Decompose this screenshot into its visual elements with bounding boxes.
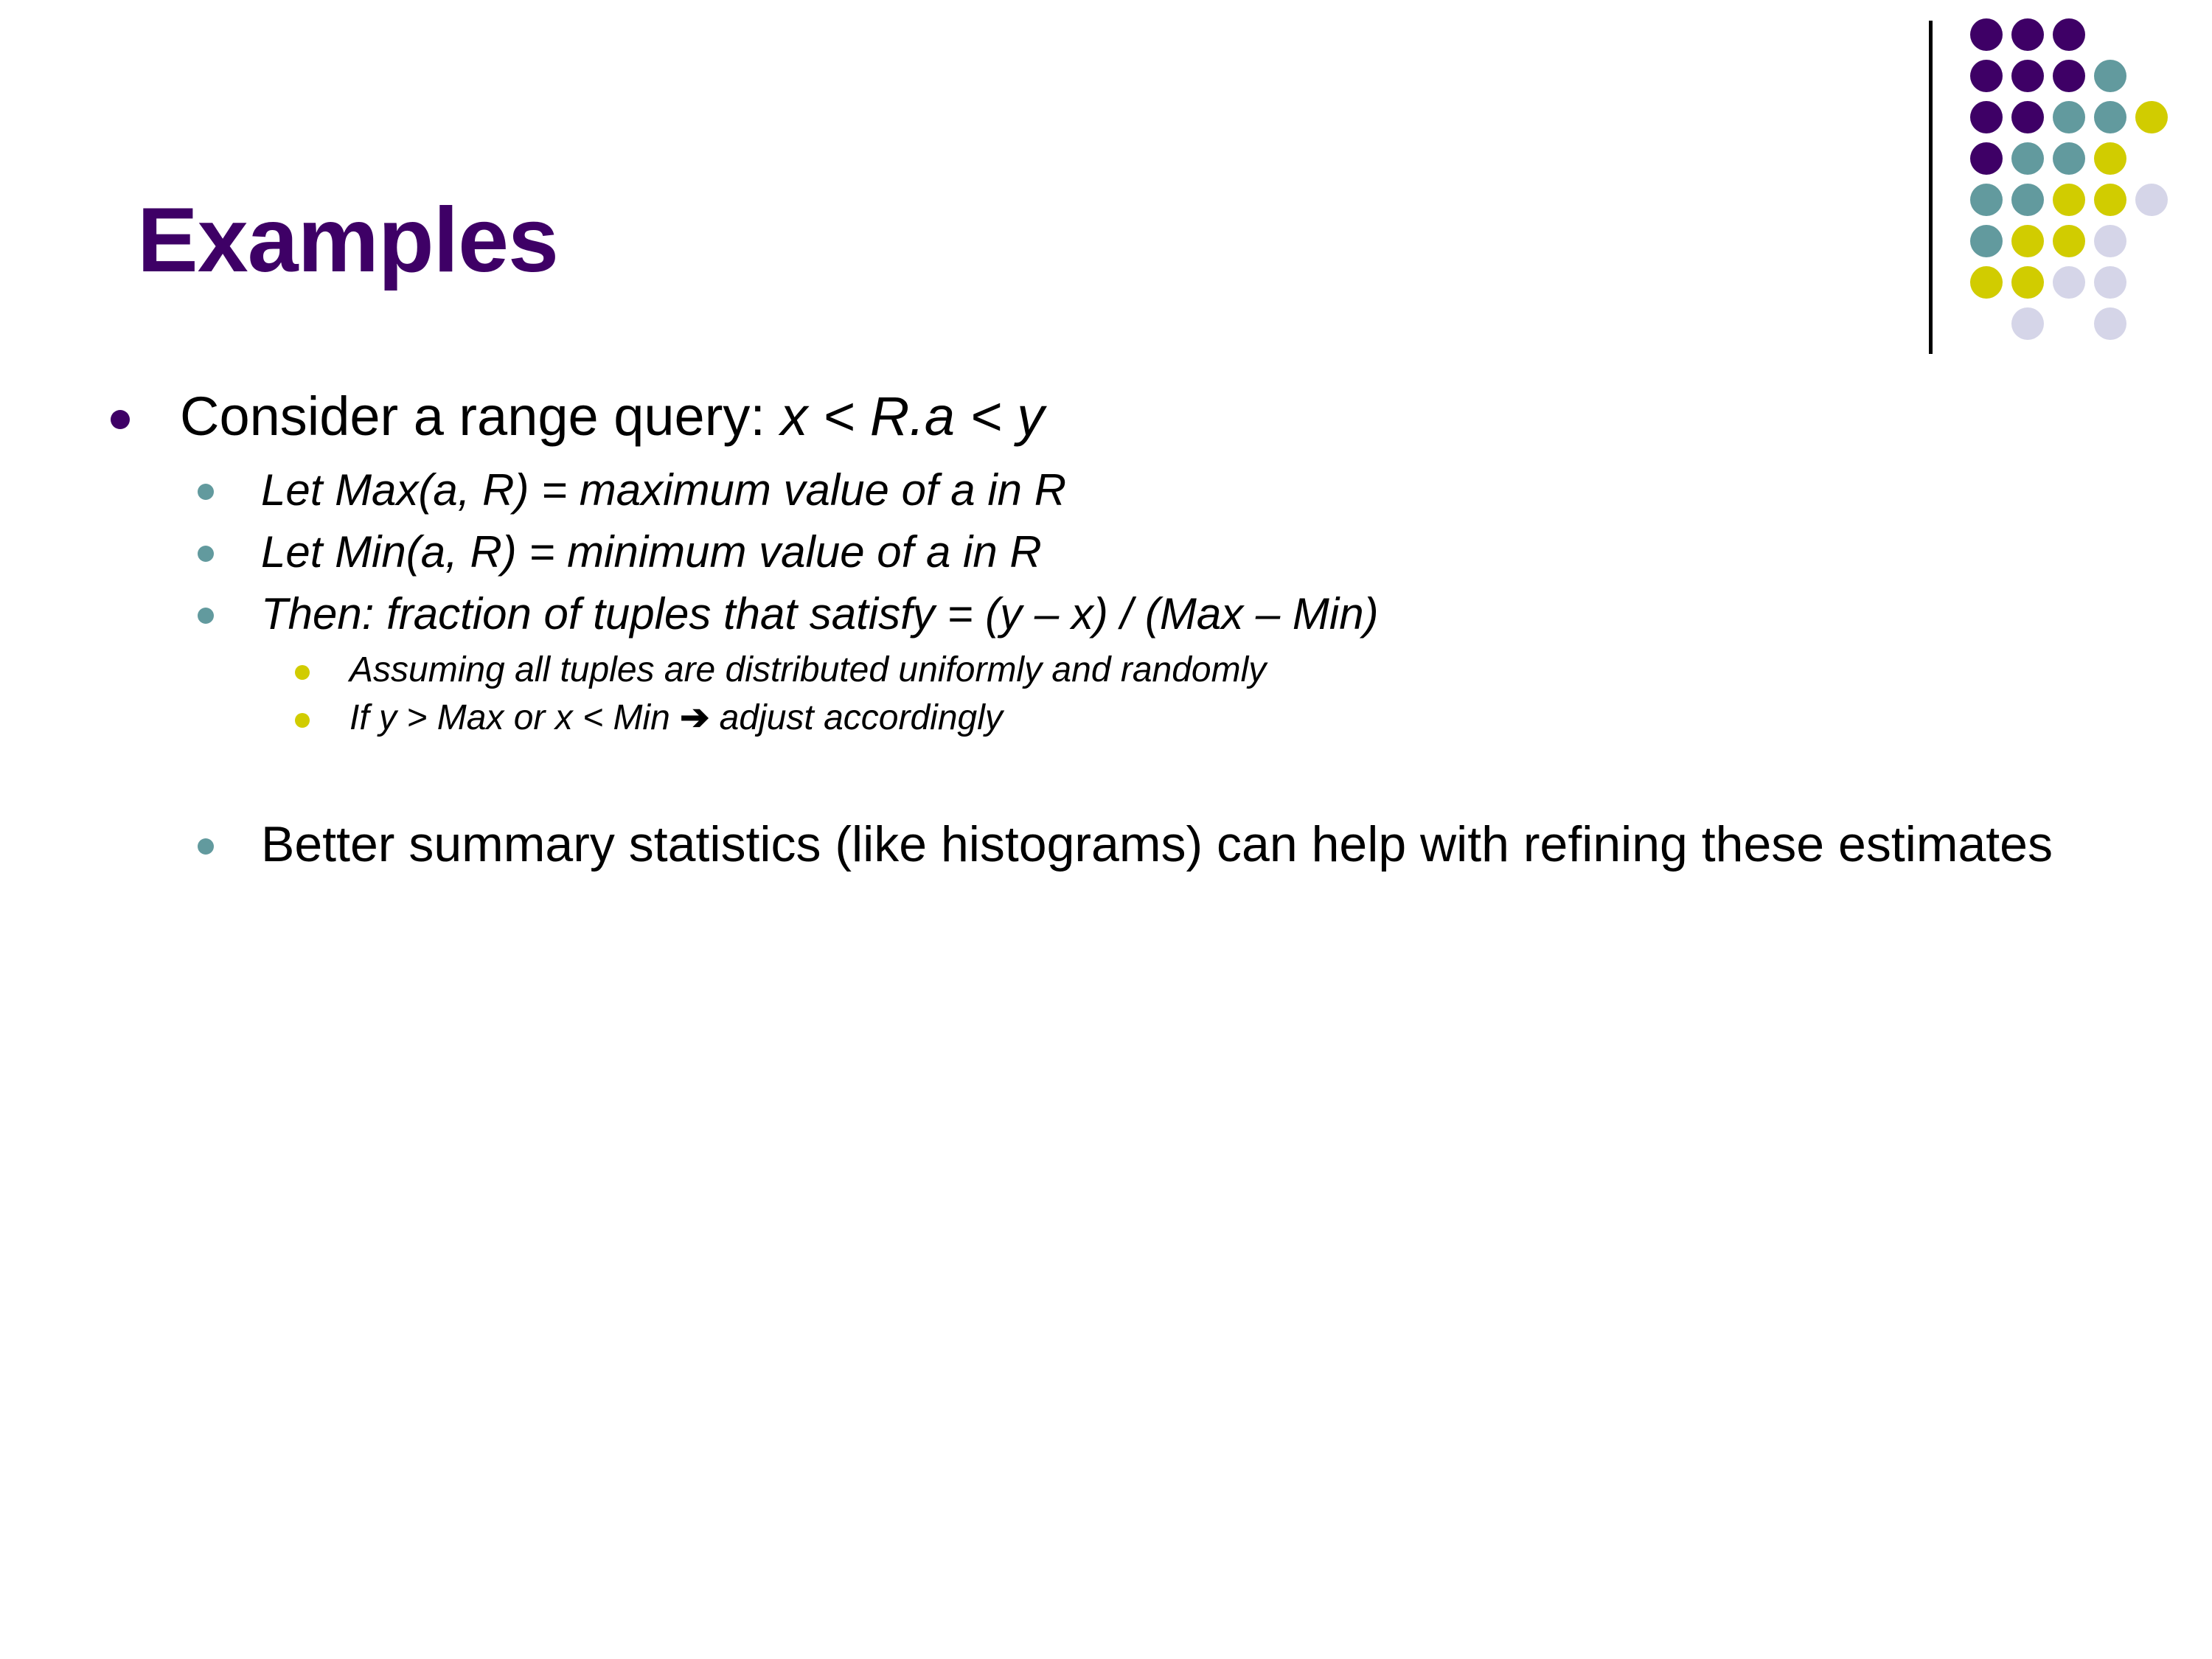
logo-dot-teal — [2011, 142, 2044, 175]
bullet-text: Consider a range query: x < R.a < y — [130, 383, 2101, 450]
logo-dot-lavender — [2053, 266, 2085, 299]
logo-dot-purple — [1970, 18, 2003, 51]
logo-dot-purple — [1970, 142, 2003, 175]
logo-dot-yellow — [2011, 266, 2044, 299]
logo-dot-lavender — [2094, 307, 2126, 340]
bullet-text: Let Min(a, R) = minimum value of a in R — [214, 524, 2101, 581]
bullet-marker-yellow-icon — [295, 713, 310, 728]
logo-dot-purple — [2011, 60, 2044, 92]
right-arrow-icon: ➔ — [680, 698, 709, 737]
logo-dot-purple — [2011, 18, 2044, 51]
bullet-marker-teal-icon — [198, 484, 214, 500]
bullet-item-level2-max: Let Max(a, R) = maximum value of a in R — [198, 462, 2101, 519]
logo-dot-teal — [2053, 142, 2085, 175]
bullet-text: If y > Max or x < Min ➔ adjust according… — [310, 695, 2101, 741]
logo-dot-purple — [2011, 101, 2044, 133]
logo-dot-yellow — [2011, 225, 2044, 257]
logo-dot-purple — [2053, 60, 2085, 92]
bullet-marker-teal-icon — [198, 546, 214, 562]
slide-body: Consider a range query: x < R.a < y Let … — [111, 383, 2101, 880]
logo-dot-yellow — [2053, 225, 2085, 257]
logo-dot-teal — [2094, 101, 2126, 133]
bullet-text: Let Max(a, R) = maximum value of a in R — [214, 462, 2101, 519]
bullet-marker-yellow-icon — [295, 665, 310, 680]
logo-dot-yellow — [2135, 101, 2168, 133]
bullet-item-level2-min: Let Min(a, R) = minimum value of a in R — [198, 524, 2101, 581]
bullet-item-level1: Consider a range query: x < R.a < y — [111, 383, 2101, 450]
slide-canvas: Examples Consider a range query: x < R.a… — [0, 0, 2212, 1659]
logo-dot-teal — [1970, 225, 2003, 257]
logo-dot-lavender — [2094, 225, 2126, 257]
bullet-text: Better summary statistics (like histogra… — [214, 813, 2101, 875]
bullet-text-plain: Consider a range query: — [180, 386, 780, 447]
bullet-text: Assuming all tuples are distributed unif… — [310, 647, 2101, 693]
logo-dot-yellow — [2094, 184, 2126, 216]
logo-dot-yellow — [2053, 184, 2085, 216]
logo-dot-teal — [2094, 60, 2126, 92]
dot-grid-graphic — [1970, 18, 2212, 387]
bullet-text-before: If y > Max or x < Min — [349, 698, 680, 737]
bullet-item-level2-summary: Better summary statistics (like histogra… — [198, 813, 2101, 875]
logo-dot-purple — [1970, 60, 2003, 92]
logo-dot-teal — [1970, 184, 2003, 216]
bullet-text: Then: fraction of tuples that satisfy = … — [214, 585, 2101, 643]
logo-dot-purple — [1970, 101, 2003, 133]
vertical-divider-line — [1929, 21, 1933, 354]
bullet-marker-purple-icon — [111, 410, 130, 429]
bullet-marker-teal-icon — [198, 838, 214, 855]
bullet-item-level2-fraction: Then: fraction of tuples that satisfy = … — [198, 585, 2101, 643]
bullet-marker-teal-icon — [198, 608, 214, 624]
logo-dot-teal — [2011, 184, 2044, 216]
logo-dot-lavender — [2094, 266, 2126, 299]
bullet-text-after: adjust accordingly — [709, 698, 1003, 737]
bullet-item-level3-assuming: Assuming all tuples are distributed unif… — [295, 647, 2101, 693]
logo-dot-yellow — [1970, 266, 2003, 299]
logo-dot-lavender — [2011, 307, 2044, 340]
bullet-text-italic: x < R.a < y — [780, 386, 1044, 447]
decorative-logo — [1902, 0, 2212, 413]
logo-dot-lavender — [2135, 184, 2168, 216]
logo-dot-teal — [2053, 101, 2085, 133]
page-title: Examples — [137, 192, 558, 288]
bullet-item-level3-adjust: If y > Max or x < Min ➔ adjust according… — [295, 695, 2101, 741]
logo-dot-purple — [2053, 18, 2085, 51]
vertical-spacer — [111, 742, 2101, 813]
logo-dot-yellow — [2094, 142, 2126, 175]
